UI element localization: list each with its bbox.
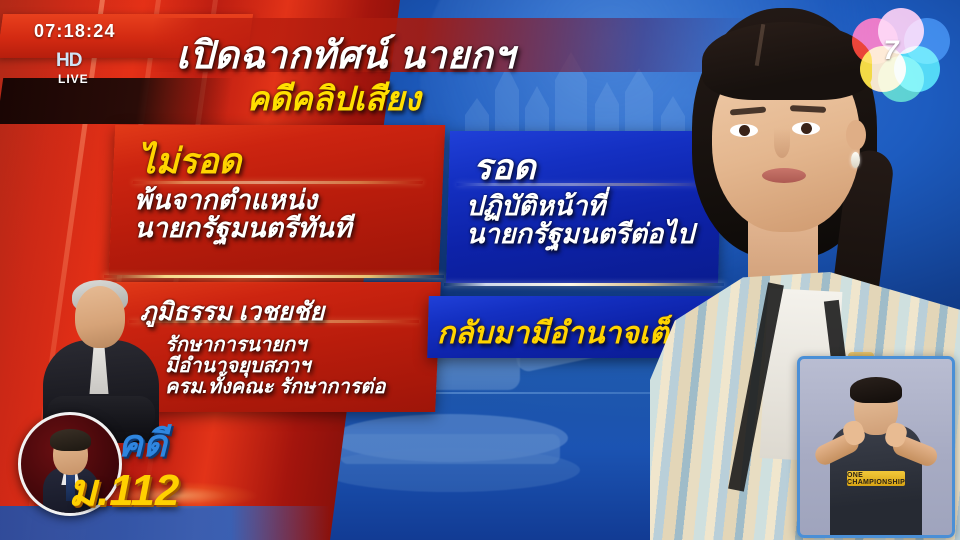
left-person-details: รักษาการนายกฯ มีอำนาจยุบสภาฯ ครม.ทั้งคณะ…	[165, 335, 385, 397]
anchor-ear	[846, 120, 866, 150]
anchor-eye-left	[730, 124, 758, 137]
logo-number-7: 7	[876, 32, 906, 68]
left-body-line-2: นายกรัฐมนตรีทันที	[134, 214, 352, 242]
left-detail-line-1: รักษาการนายกฯ	[165, 335, 385, 356]
anchor-eye-right	[792, 122, 820, 135]
portrait-head	[75, 286, 125, 348]
right-heading: รอด	[473, 140, 536, 195]
sign-language-box: ONE CHAMPIONSHIP	[797, 356, 955, 538]
left-body-line-1: พ้นจากตำแหน่ง	[134, 186, 352, 214]
left-detail-line-3: ครม.ทั้งคณะ รักษาการต่อ	[165, 377, 385, 398]
left-body: พ้นจากตำแหน่ง นายกรัฐมนตรีทันที	[134, 186, 352, 242]
left-person-name: ภูมิธรรม เวชยชัย	[140, 292, 324, 332]
hd-label: HD	[56, 50, 81, 72]
live-label: LIVE	[58, 72, 89, 86]
interpreter-shirt-logo: ONE CHAMPIONSHIP	[847, 471, 905, 486]
anchor-nose	[774, 128, 790, 158]
anchor-pupil-right	[801, 123, 812, 134]
anchor-hair-front	[702, 22, 872, 100]
anchor-pupil-left	[739, 125, 750, 136]
left-heading: ไม่รอด	[138, 134, 241, 189]
headline-sub: คดีคลิปเสียง	[247, 72, 421, 125]
anchor-lips	[762, 168, 806, 183]
interpreter-hair	[850, 377, 902, 403]
avatar-hair	[50, 429, 91, 451]
clock-time: 07:18:24	[34, 21, 116, 42]
anchor-earring	[851, 152, 860, 168]
left-detail-line-2: มีอำนาจยุบสภาฯ	[165, 356, 385, 377]
broadcast-screen: 07:18:24 เปิดฉากทัศน์ นายกฯ คดีคลิปเสียง…	[0, 0, 960, 540]
badge-line-2: ม.112	[68, 455, 179, 525]
channel-7-logo: 7	[852, 8, 952, 106]
